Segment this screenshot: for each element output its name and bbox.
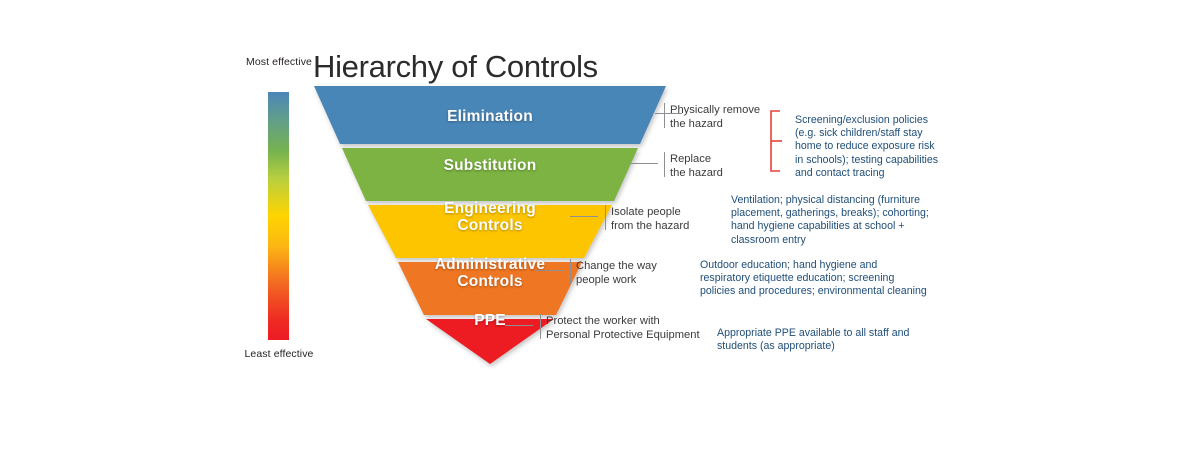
leader-tick-elimination (664, 103, 665, 128)
hierarchy-of-controls-figure: Most effective Least effective Hierarchy… (0, 0, 1200, 450)
leader-tick-administrative-controls (570, 259, 571, 284)
note-appropriate-ppe: Appropriate PPE available to all staff a… (717, 327, 967, 353)
tier-shape-ppe[interactable] (426, 319, 554, 364)
note-screening-exclusion-policies: Screening/exclusion policies (e.g. sick … (795, 114, 960, 180)
bracket-shape (768, 110, 786, 172)
leader-tick-ppe (540, 314, 541, 339)
leader-tick-engineering-controls (605, 205, 606, 230)
leader-line-ppe (505, 325, 533, 326)
red-bracket-grouping (768, 110, 786, 172)
scale-label-most-effective: Most effective (243, 56, 315, 69)
note-ventilation-distancing: Ventilation; physical distancing (furnit… (731, 194, 963, 247)
leader-line-substitution (630, 163, 658, 164)
callout-engineering-controls: Isolate people from the hazard (611, 206, 731, 233)
note-outdoor-education-hygiene: Outdoor education; hand hygiene and resp… (700, 259, 962, 299)
leader-line-administrative-controls (535, 270, 563, 271)
tier-shape-substitution[interactable] (342, 148, 638, 201)
tier-shape-elimination[interactable] (314, 86, 666, 144)
callout-ppe: Protect the worker with Personal Protect… (546, 315, 726, 342)
page-title: Hierarchy of Controls (313, 50, 598, 84)
leader-tick-substitution (664, 152, 665, 177)
effectiveness-gradient-bar (268, 92, 289, 340)
tier-shape-engineering-controls[interactable] (368, 205, 612, 258)
callout-substitution: Replace the hazard (670, 153, 780, 180)
leader-line-engineering-controls (570, 216, 598, 217)
callout-administrative-controls: Change the way people work (576, 260, 696, 287)
